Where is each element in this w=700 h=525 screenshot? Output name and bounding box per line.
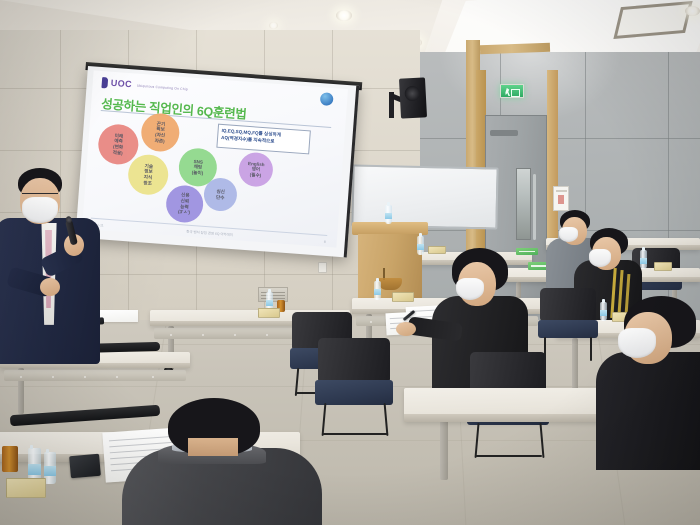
attendee-hand xyxy=(396,322,416,336)
door-handle[interactable] xyxy=(533,174,536,240)
water-bottle xyxy=(385,205,392,224)
face-mask-icon xyxy=(618,328,656,358)
globe-icon xyxy=(320,92,334,106)
slide-bubble: 끈기 확보 (자신 자존) xyxy=(140,112,181,153)
slide-logo: UOC Ubiquitous Computing On Chip xyxy=(101,77,188,94)
attendee-neck xyxy=(188,438,238,456)
attendee-right-foreground xyxy=(596,296,700,466)
chair[interactable] xyxy=(540,288,596,360)
attendee-jacket xyxy=(596,352,700,470)
exit-sign-icon xyxy=(500,84,524,98)
presentation-slide: UOC Ubiquitous Computing On Chip 성공하는 직업… xyxy=(82,70,348,247)
wall-outlet xyxy=(318,262,327,273)
slide-bubble: English 영어 (필수) xyxy=(238,151,274,187)
downlight xyxy=(269,22,278,29)
lectern-emblem xyxy=(378,278,402,290)
logo-tagline: Ubiquitous Computing On Chip xyxy=(137,83,188,91)
downlight xyxy=(336,10,352,21)
wall-notice-sign xyxy=(553,186,569,211)
attendee-foreground-back xyxy=(122,398,322,525)
face-mask-icon xyxy=(589,249,611,267)
snack-tray xyxy=(392,292,414,302)
chair[interactable] xyxy=(318,338,390,434)
slide-bubble: 심신 단수 xyxy=(203,177,238,212)
pa-speaker-icon xyxy=(399,77,427,118)
projection-screen: UOC Ubiquitous Computing On Chip 성공하는 직업… xyxy=(75,66,359,257)
smartphone[interactable] xyxy=(69,454,101,479)
table-leg xyxy=(440,420,448,480)
door-closer xyxy=(490,130,518,136)
snack-tray xyxy=(6,478,46,498)
logo-mark-icon xyxy=(101,77,108,88)
logo-word: UOC xyxy=(110,79,132,90)
slide-bubble: 기술 정보 지식 창조 xyxy=(127,153,170,196)
snack-tray xyxy=(258,308,280,318)
presenter xyxy=(0,168,100,364)
glasses-icon xyxy=(22,193,58,194)
slide-footer-center: 한국 벤처 창업 경영 6Q 아카데미 xyxy=(186,229,233,237)
door-window xyxy=(516,168,531,240)
face-mask-icon xyxy=(22,197,58,223)
snack-tray xyxy=(654,262,672,271)
water-bottle xyxy=(374,281,381,300)
slide-callout-box: IQ,EQ,SQ,MQ,FQ를 싱싱하게 AQ(역경지수)를 지속적으로 xyxy=(216,124,311,155)
table-modesty-panel xyxy=(4,370,186,381)
downlight xyxy=(685,6,700,16)
lecture-hall-photo: UOC Ubiquitous Computing On Chip 성공하는 직업… xyxy=(0,0,700,525)
presenter-hand-left xyxy=(40,278,60,296)
face-mask-icon xyxy=(456,278,484,300)
slide-bubble: 신용 신뢰 능력 (3'ㅅ') xyxy=(165,184,205,224)
beverage-can xyxy=(2,446,18,472)
whiteboard xyxy=(351,164,498,229)
slide-page-number: 8 xyxy=(324,240,326,244)
